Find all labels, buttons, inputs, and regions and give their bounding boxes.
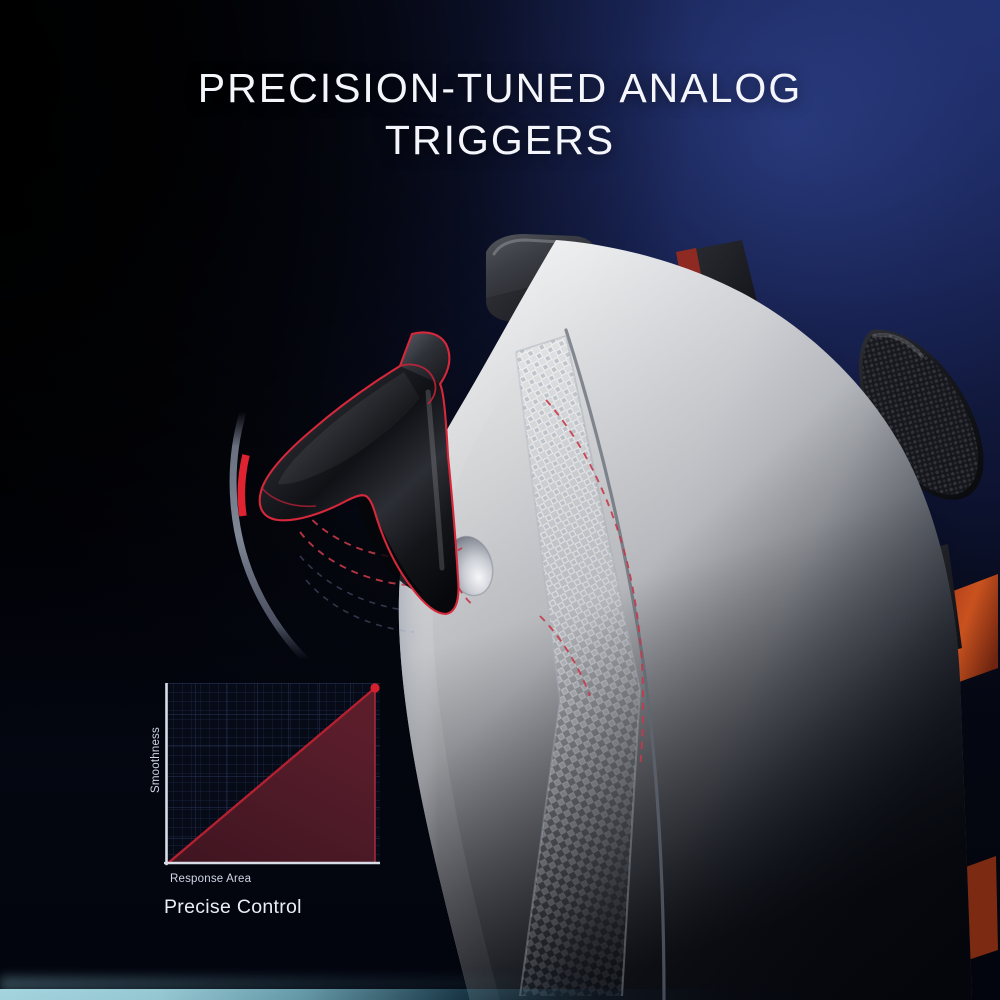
chart-svg [164,683,380,866]
chart-y-axis-label: Smoothness [150,700,162,820]
performance-chart: Smoothness Response Area Precise Control [130,668,410,930]
grip-texture-strip [480,320,680,1000]
product-marketing-image: PRECISION-TUNED ANALOG TRIGGERS [0,0,1000,1000]
bottom-edge-strip [0,989,1000,1000]
chart-endpoint-marker [370,683,379,692]
chart-caption: Precise Control [164,896,302,919]
chart-x-axis-label: Response Area [170,873,251,885]
chart-plot-area [164,683,380,866]
